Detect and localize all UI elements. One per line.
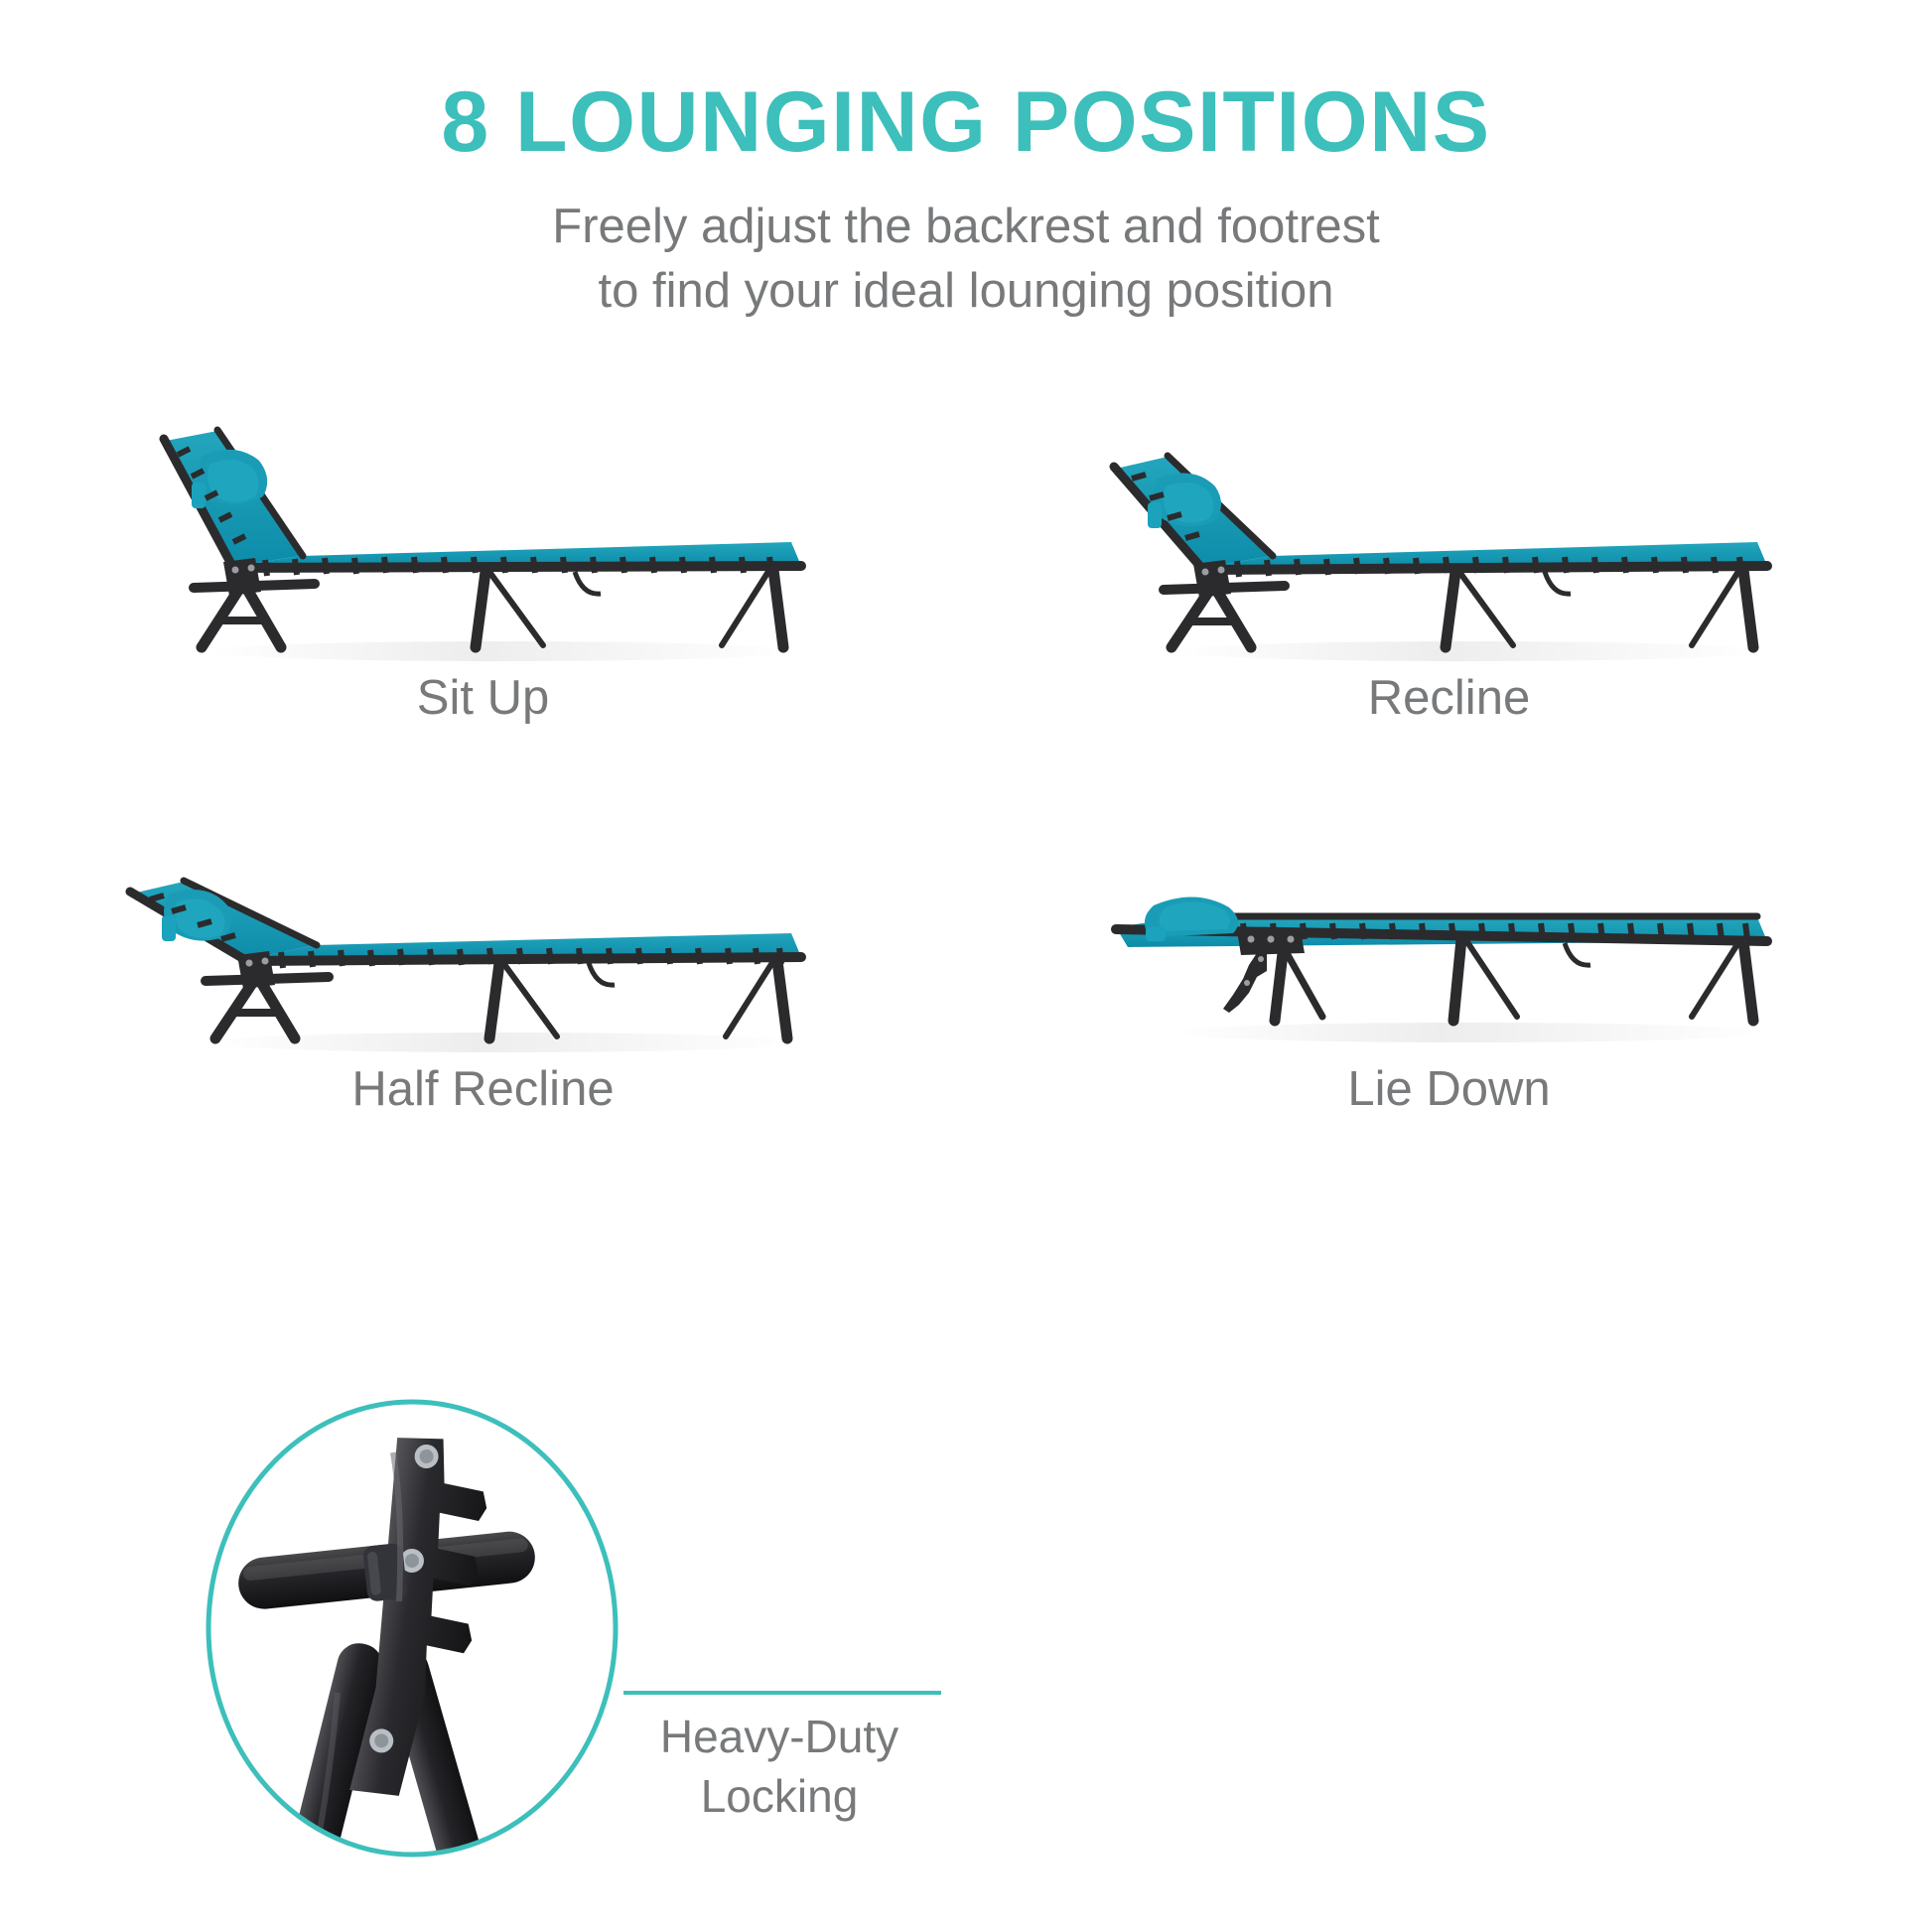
page-subtitle: Freely adjust the backrest and footrest … <box>0 195 1932 323</box>
lounge-chair-half-recline-icon <box>0 808 966 1056</box>
feature-section <box>0 1360 1932 1932</box>
subtitle-line-2: to find your ideal lounging position <box>0 259 1932 324</box>
page-title: 8 LOUNGING POSITIONS <box>0 77 1932 167</box>
position-label-sit-up: Sit Up <box>0 670 966 726</box>
position-cell-lie-down: Lie Down <box>966 808 1932 1146</box>
lounge-chair-sit-up-icon <box>0 417 966 665</box>
callout-leader-line <box>623 1691 941 1695</box>
position-label-lie-down: Lie Down <box>966 1061 1932 1117</box>
header: 8 LOUNGING POSITIONS Freely adjust the b… <box>0 0 1932 324</box>
lounge-chair-recline-icon <box>966 417 1932 665</box>
infographic-page: 8 LOUNGING POSITIONS Freely adjust the b… <box>0 0 1932 1932</box>
callout-line-2: Locking <box>616 1767 943 1827</box>
locking-mechanism-closeup-icon <box>199 1395 625 1862</box>
position-cell-recline: Recline <box>966 417 1932 755</box>
subtitle-line-1: Freely adjust the backrest and footrest <box>0 195 1932 259</box>
positions-grid: Sit Up <box>0 417 1932 1146</box>
callout-text: Heavy-Duty Locking <box>616 1708 943 1827</box>
lounge-chair-lie-down-icon <box>966 808 1932 1056</box>
position-label-recline: Recline <box>966 670 1932 726</box>
position-cell-half-recline: Half Recline <box>0 808 966 1146</box>
position-cell-sit-up: Sit Up <box>0 417 966 755</box>
callout-line-1: Heavy-Duty <box>616 1708 943 1767</box>
position-label-half-recline: Half Recline <box>0 1061 966 1117</box>
